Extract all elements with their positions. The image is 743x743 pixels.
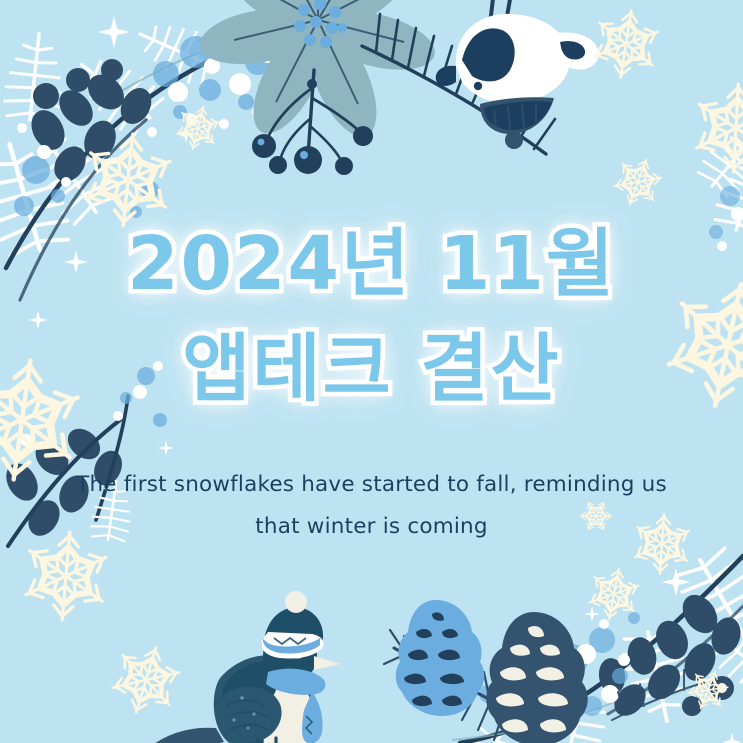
title-line-2: 앱테크 결산 xyxy=(0,317,743,422)
title-line-1: 2024년 11월 xyxy=(0,212,743,317)
subtitle-line-2: that winter is coming xyxy=(62,506,682,548)
subtitle-line-1: The first snowflakes have started to fal… xyxy=(62,464,682,506)
winter-card: 2024년 11월 앱테크 결산 The first snowflakes ha… xyxy=(0,0,743,743)
text-layer: 2024년 11월 앱테크 결산 The first snowflakes ha… xyxy=(0,0,743,743)
title-block: 2024년 11월 앱테크 결산 xyxy=(0,212,743,422)
subtitle-block: The first snowflakes have started to fal… xyxy=(62,464,682,548)
